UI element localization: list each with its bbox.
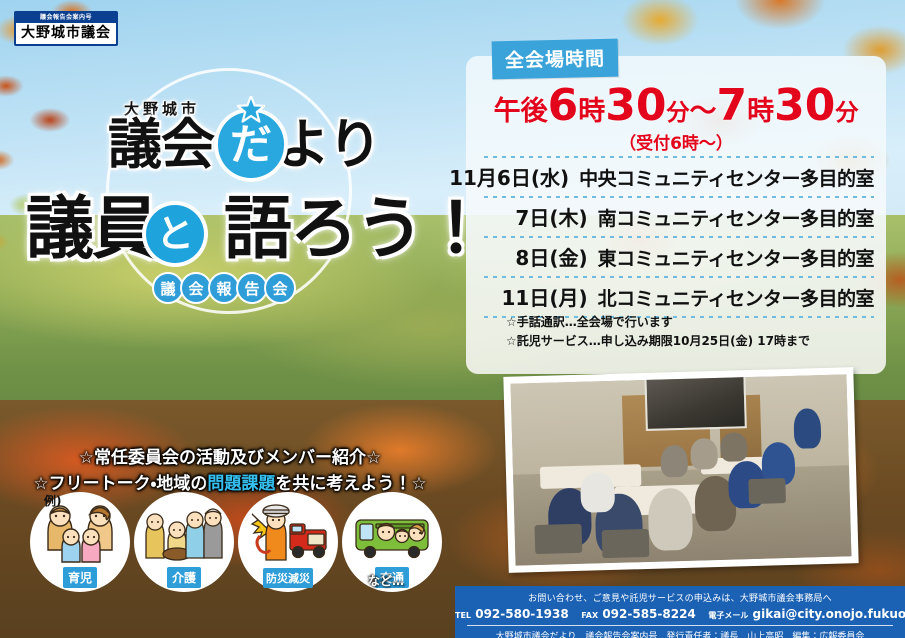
schedule-row: 11日(月) 北コミュニティセンター多目的室 bbox=[484, 278, 874, 316]
schedule-row: 7日(木) 南コミュニティセンター多目的室 bbox=[484, 198, 874, 236]
photo-attendee bbox=[660, 444, 688, 477]
firefighter-truck-icon bbox=[246, 502, 330, 564]
meeting-photo-frame bbox=[503, 367, 858, 573]
time-hour-unit: 時 bbox=[578, 96, 605, 127]
schedule-row: 8日(金) 東コミュニティセンター多目的室 bbox=[484, 238, 874, 276]
star-icon bbox=[237, 96, 265, 123]
photo-attendee bbox=[690, 438, 718, 470]
schedule-row: 11月6日(水) 中央コミュニティセンター多目的室 bbox=[484, 158, 874, 196]
bus-transport-icon bbox=[350, 502, 434, 564]
schedule-weekday: (水) bbox=[531, 162, 569, 191]
photo-attendee bbox=[648, 488, 693, 551]
masthead: 大野城市 議会より だ 議員語ろう！ と 議 会 報 告 会 bbox=[0, 0, 460, 330]
da-character: だ bbox=[230, 124, 272, 166]
family-children-icon bbox=[38, 502, 122, 564]
to-character-bubble: と bbox=[146, 205, 204, 263]
to-character: と bbox=[156, 215, 194, 253]
schedule-list: 11月6日(水) 中央コミュニティセンター多目的室 7日(木) 南コミュニティセ… bbox=[484, 156, 874, 318]
panel-notes: ☆手話通訳…全会場で行います ☆託児サービス…申し込み期限10月25日(金) 1… bbox=[506, 313, 810, 350]
time-hour-end: 7 bbox=[717, 80, 748, 131]
slogan-line-2-post: を共に考えよう！☆ bbox=[275, 474, 426, 494]
fax-label: FAX bbox=[581, 611, 598, 620]
tel-label: TEL bbox=[455, 611, 471, 620]
photo-attendee bbox=[720, 432, 748, 462]
schedule-place: 中央コミュニティセンター多目的室 bbox=[579, 164, 874, 191]
council-badge-subtitle: 議会報告会案内号 bbox=[16, 13, 116, 23]
example-label-childcare: 育児 bbox=[63, 567, 97, 588]
schedule-date: 8日 bbox=[515, 242, 549, 271]
contact-bar: お問い合わせ、ご意見や託児サービスの申込みは、大野城市議会事務局へ TEL 09… bbox=[455, 586, 905, 638]
report-badge-char: 会 bbox=[264, 272, 296, 304]
meeting-time: 午後6時30分～7時30分 bbox=[466, 84, 886, 128]
council-badge-title: 大野城市議会 bbox=[16, 23, 116, 42]
photo-chair bbox=[535, 524, 583, 554]
time-range-separator: ～ bbox=[690, 96, 717, 127]
contact-details: TEL 092-580-1938 FAX 092-585-8224 電子メール … bbox=[455, 604, 905, 621]
time-minute-end: 30 bbox=[774, 80, 835, 131]
example-item-nursing-care: 介護 bbox=[134, 492, 234, 592]
tel-number[interactable]: 092-580-1938 bbox=[475, 607, 568, 621]
main-headline-part-a: 議員 bbox=[26, 190, 158, 269]
schedule-date: 11日 bbox=[502, 282, 550, 311]
reception-time: （受付6時～） bbox=[466, 129, 886, 154]
venue-time-tag: 全会場時間 bbox=[492, 39, 619, 80]
time-hour-end-unit: 時 bbox=[747, 96, 774, 127]
meeting-photo bbox=[511, 374, 852, 565]
photo-attendee bbox=[580, 472, 615, 513]
example-prefix-label: 例) bbox=[44, 492, 62, 509]
example-etc-label: など… bbox=[368, 572, 404, 589]
email-address[interactable]: gikai@city.onojo.fukuoka.jp bbox=[753, 607, 905, 621]
photo-chair bbox=[602, 529, 650, 558]
main-headline: 議員語ろう！ bbox=[26, 196, 488, 264]
publication-credits: 大野城市議会だより 議会報告会案内号 発行責任者：議長 山上高昭 編集：広報委員… bbox=[455, 626, 905, 638]
example-item-disaster-prevention: 防災減災 bbox=[238, 492, 338, 592]
note-sign-language: ☆手話通訳…全会場で行います bbox=[506, 313, 810, 332]
time-hour-start: 6 bbox=[548, 80, 579, 131]
council-badge: 議会報告会案内号 大野城市議会 bbox=[14, 11, 118, 46]
elderly-care-icon bbox=[142, 502, 226, 564]
schedule-weekday: (木) bbox=[549, 202, 587, 231]
slogan-line-2-highlight: 問題課題 bbox=[207, 474, 275, 494]
slogan-line-1: ☆常任委員会の活動及びメンバー紹介☆ bbox=[0, 446, 460, 472]
schedule-date: 11月6日 bbox=[449, 162, 531, 191]
newsletter-title-part-b: より bbox=[276, 113, 381, 176]
example-label-disaster-prevention: 防災減災 bbox=[263, 568, 313, 588]
time-minute-start: 30 bbox=[605, 80, 666, 131]
contact-intro: お問い合わせ、ご意見や託児サービスの申込みは、大野城市議会事務局へ bbox=[455, 586, 905, 604]
schedule-date: 7日 bbox=[515, 202, 549, 231]
photo-presenter bbox=[794, 408, 822, 449]
fax-number: 092-585-8224 bbox=[602, 607, 695, 621]
newsletter-title-part-a: 議会 bbox=[108, 113, 214, 176]
schedule-weekday: (金) bbox=[549, 242, 587, 271]
main-headline-part-b: 語ろう！ bbox=[224, 190, 488, 269]
example-label-nursing-care: 介護 bbox=[167, 567, 201, 588]
slogan-block: ☆常任委員会の活動及びメンバー紹介☆ ☆フリートーク・地域の問題課題を共に考えよ… bbox=[0, 446, 460, 497]
email-label: 電子メール bbox=[708, 611, 748, 620]
time-minute-unit: 分 bbox=[667, 100, 690, 126]
report-meeting-badge: 議 会 報 告 会 bbox=[152, 272, 292, 304]
note-childcare-service: ☆託児サービス…申し込み期限10月25日(金) 17時まで bbox=[506, 332, 810, 351]
schedule-weekday: (月) bbox=[549, 282, 587, 311]
slogan-line-2-pre: ☆フリートーク・地域の bbox=[33, 474, 207, 494]
poster-root: 議会報告会案内号 大野城市議会 大野城市 議会より だ 議員語ろう！ と 議 会… bbox=[0, 0, 905, 638]
schedule-place: 東コミュニティセンター多目的室 bbox=[598, 244, 874, 271]
photo-projector-screen bbox=[645, 374, 747, 431]
schedule-place: 北コミュニティセンター多目的室 bbox=[598, 284, 874, 311]
time-minute-end-unit: 分 bbox=[835, 100, 858, 126]
time-prefix: 午後 bbox=[494, 96, 548, 127]
schedule-place: 南コミュニティセンター多目的室 bbox=[598, 204, 874, 231]
photo-chair bbox=[748, 478, 786, 504]
